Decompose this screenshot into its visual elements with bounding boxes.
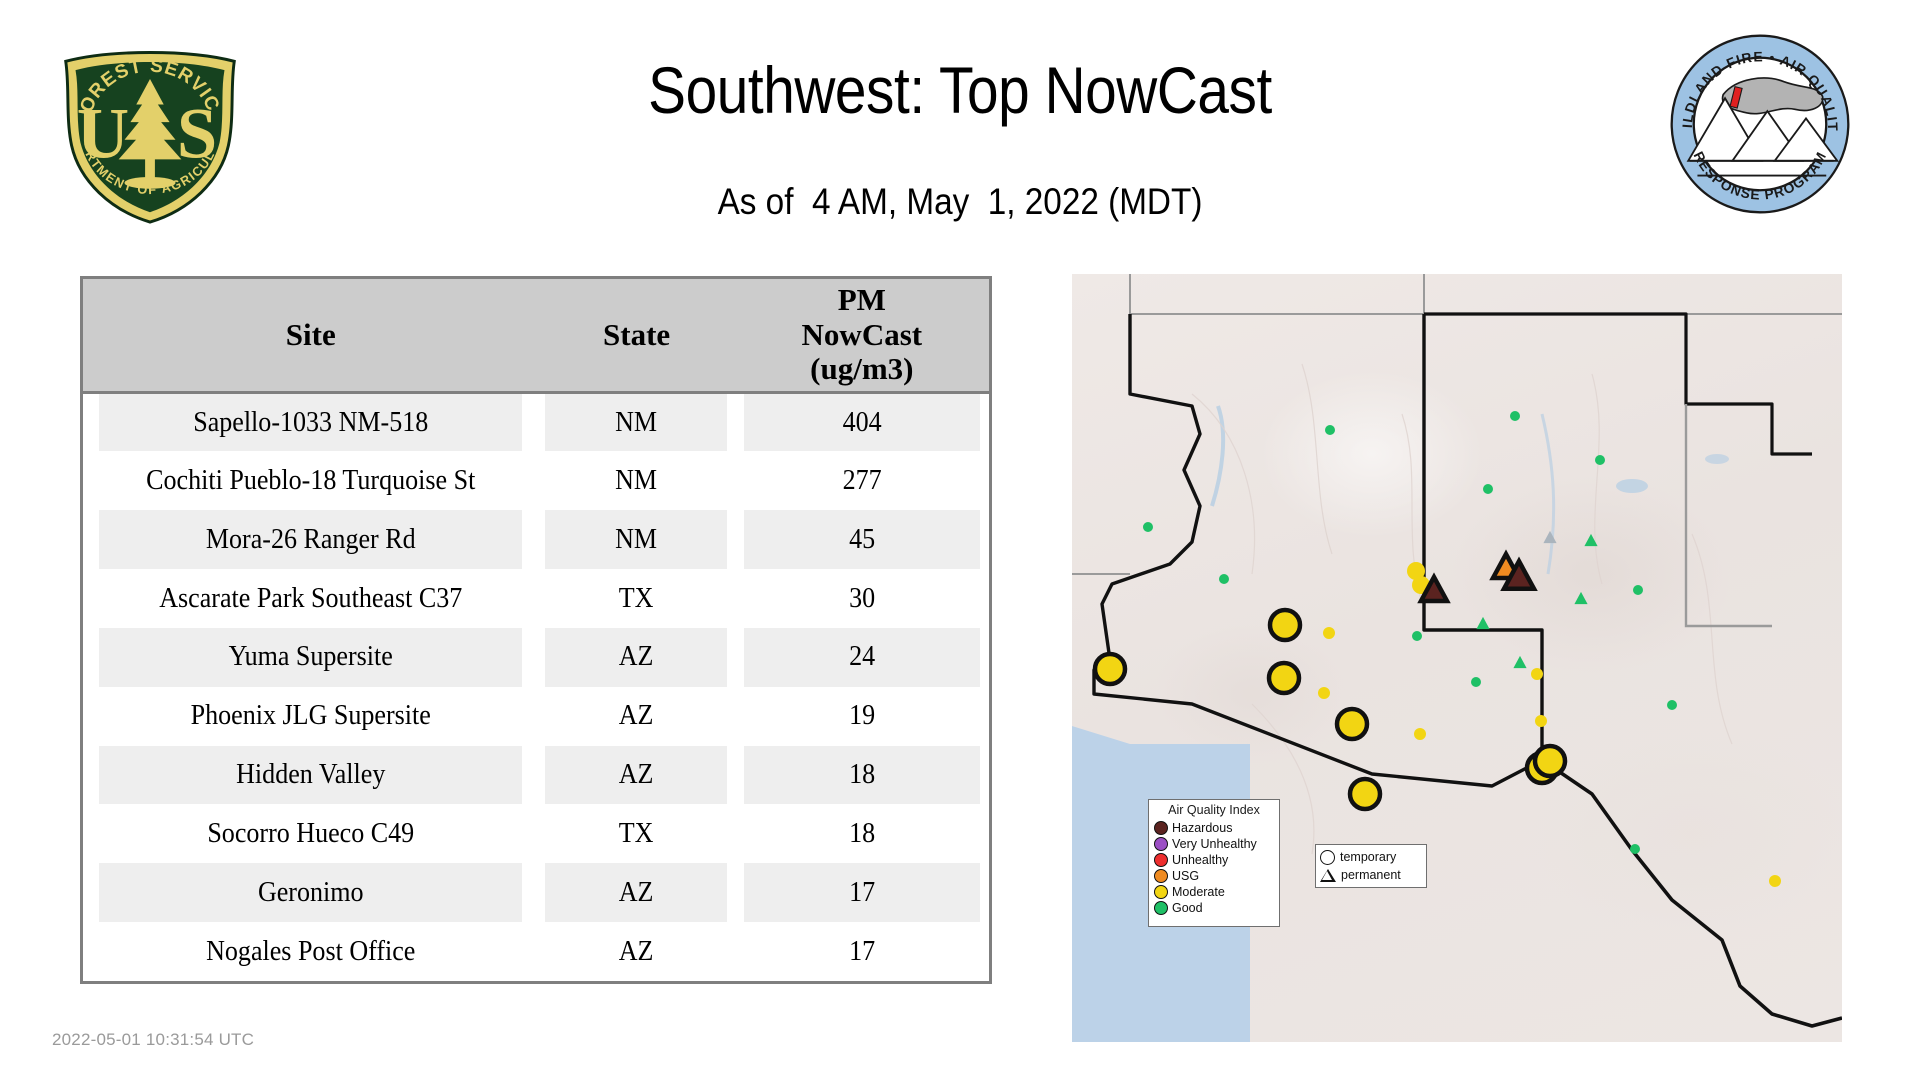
cell-site: Yuma Supersite <box>99 628 523 687</box>
cell-pm-nowcast: 19 <box>744 687 981 746</box>
map-marker-circle[interactable] <box>1143 522 1153 532</box>
map-marker-circle[interactable] <box>1270 610 1300 640</box>
table-header: Site State PM NowCast (ug/m3) <box>83 279 989 393</box>
wildland-fire-air-quality-logo: WILDLAND FIRE • AIR QUALITY RESPONSE PRO… <box>1668 32 1852 216</box>
map-marker-circle[interactable] <box>1337 709 1367 739</box>
legend-label-temporary: temporary <box>1340 850 1396 864</box>
cell-site: Socorro Hueco C49 <box>99 804 523 863</box>
river-rio-grande-upper <box>1542 414 1554 574</box>
nowcast-table: Site State PM NowCast (ug/m3) Sapello-10… <box>83 279 989 981</box>
aqi-legend-row: Moderate <box>1154 884 1274 900</box>
aqi-swatch-icon <box>1154 885 1168 899</box>
aqi-legend-label: Good <box>1172 902 1203 915</box>
site-type-legend: temporary permanent <box>1315 844 1427 888</box>
cell-pm-nowcast: 45 <box>744 510 981 569</box>
boundary-arizona-california <box>1094 314 1542 786</box>
map-marker-circle[interactable] <box>1483 484 1493 494</box>
map-marker-triangle[interactable] <box>1513 656 1526 668</box>
permanent-site-triangle-icon <box>1320 869 1336 882</box>
map-marker-circle[interactable] <box>1095 654 1125 684</box>
boundary-newmexico-north <box>1424 314 1812 454</box>
aqi-legend-label: Very Unhealthy <box>1172 838 1257 851</box>
cell-pm-nowcast: 277 <box>744 451 981 510</box>
aqi-legend-rows: HazardousVery UnhealthyUnhealthyUSGModer… <box>1154 820 1274 916</box>
cell-state: AZ <box>545 922 727 981</box>
aqi-legend-title: Air Quality Index <box>1154 804 1274 818</box>
cell-site: Phoenix JLG Supersite <box>99 687 523 746</box>
cell-state: AZ <box>545 863 727 922</box>
aqi-legend-row: Good <box>1154 900 1274 916</box>
nowcast-table-container: Site State PM NowCast (ug/m3) Sapello-10… <box>80 276 992 984</box>
table-body: Sapello-1033 NM-518NM404Cochiti Pueblo-1… <box>83 393 989 981</box>
table-row[interactable]: Socorro Hueco C49TX18 <box>83 804 989 863</box>
aqi-swatch-icon <box>1154 821 1168 835</box>
page-title: Southwest: Top NowCast <box>358 52 1562 128</box>
column-header-pm-line1: PM <box>737 283 987 318</box>
table-row[interactable]: Mora-26 Ranger RdNM45 <box>83 510 989 569</box>
map-marker-triangle[interactable] <box>1574 592 1587 604</box>
legend-row-temporary: temporary <box>1320 848 1422 866</box>
map-marker-circle[interactable] <box>1667 700 1677 710</box>
air-quality-map[interactable]: Air Quality Index HazardousVery Unhealth… <box>1072 274 1842 1042</box>
cell-state: NM <box>545 451 727 510</box>
cell-state: AZ <box>545 687 727 746</box>
map-marker-circle[interactable] <box>1219 574 1229 584</box>
map-marker-circle[interactable] <box>1630 844 1640 854</box>
table-row[interactable]: Hidden ValleyAZ18 <box>83 746 989 805</box>
map-marker-circle[interactable] <box>1325 425 1335 435</box>
aqi-legend-row: Very Unhealthy <box>1154 836 1274 852</box>
cell-pm-nowcast: 18 <box>744 746 981 805</box>
column-header-state[interactable]: State <box>538 279 734 393</box>
cell-pm-nowcast: 24 <box>744 628 981 687</box>
cell-state: NM <box>545 393 727 452</box>
table-header-row: Site State PM NowCast (ug/m3) <box>83 279 989 393</box>
column-header-pm-line2: NowCast <box>737 318 987 353</box>
map-marker-triangle[interactable] <box>1476 617 1489 629</box>
cell-pm-nowcast: 17 <box>744 863 981 922</box>
cell-state: NM <box>545 510 727 569</box>
map-marker-circle[interactable] <box>1412 631 1422 641</box>
aqi-swatch-icon <box>1154 869 1168 883</box>
boundary-usa-mexico <box>1542 760 1842 1026</box>
column-header-pm-nowcast[interactable]: PM NowCast (ug/m3) <box>735 279 989 393</box>
map-marker-circle[interactable] <box>1510 411 1520 421</box>
cell-state: AZ <box>545 628 727 687</box>
aqi-legend: Air Quality Index HazardousVery Unhealth… <box>1148 799 1280 927</box>
lake-feature-2 <box>1705 454 1729 464</box>
aqi-swatch-icon <box>1154 853 1168 867</box>
temporary-site-circle-icon <box>1320 850 1335 865</box>
column-header-pm-line3: (ug/m3) <box>737 352 987 387</box>
table-row[interactable]: Nogales Post OfficeAZ17 <box>83 922 989 981</box>
aqi-legend-row: Hazardous <box>1154 820 1274 836</box>
table-row[interactable]: Sapello-1033 NM-518NM404 <box>83 393 989 452</box>
page-subtitle: As of 4 AM, May 1, 2022 (MDT) <box>330 181 1590 223</box>
cell-state: TX <box>545 569 727 628</box>
forest-service-logo: FOREST SERVICE U S DEPARTMENT OF AGRICUL… <box>52 28 248 224</box>
column-header-site[interactable]: Site <box>83 279 538 393</box>
cell-site: Geronimo <box>99 863 523 922</box>
aqi-legend-label: Hazardous <box>1172 822 1232 835</box>
cell-site: Hidden Valley <box>99 746 523 805</box>
cell-site: Sapello-1033 NM-518 <box>99 393 523 452</box>
map-marker-circle[interactable] <box>1471 677 1481 687</box>
map-marker-circle[interactable] <box>1535 746 1565 776</box>
lake-feature <box>1616 479 1648 493</box>
boundary-texas-panhandle <box>1686 404 1772 626</box>
map-marker-circle[interactable] <box>1414 728 1426 740</box>
table-row[interactable]: Ascarate Park Southeast C37TX30 <box>83 569 989 628</box>
aqi-legend-row: USG <box>1154 868 1274 884</box>
map-marker-circle[interactable] <box>1323 627 1335 639</box>
footer-timestamp: 2022-05-01 10:31:54 UTC <box>52 1030 254 1050</box>
cell-site: Nogales Post Office <box>99 922 523 981</box>
map-marker-circle[interactable] <box>1535 715 1547 727</box>
aqi-legend-row: Unhealthy <box>1154 852 1274 868</box>
cell-site: Mora-26 Ranger Rd <box>99 510 523 569</box>
cell-pm-nowcast: 18 <box>744 804 981 863</box>
map-marker-circle[interactable] <box>1595 455 1605 465</box>
table-row[interactable]: Yuma SupersiteAZ24 <box>83 628 989 687</box>
aqi-legend-label: Unhealthy <box>1172 854 1228 867</box>
table-row[interactable]: Phoenix JLG SupersiteAZ19 <box>83 687 989 746</box>
table-row[interactable]: GeronimoAZ17 <box>83 863 989 922</box>
cell-state: TX <box>545 804 727 863</box>
cell-pm-nowcast: 17 <box>744 922 981 981</box>
cell-site: Ascarate Park Southeast C37 <box>99 569 523 628</box>
aqi-swatch-icon <box>1154 837 1168 851</box>
map-marker-circle[interactable] <box>1269 663 1299 693</box>
map-marker-circle[interactable] <box>1350 779 1380 809</box>
cell-pm-nowcast: 404 <box>744 393 981 452</box>
legend-row-permanent: permanent <box>1320 866 1422 884</box>
map-marker-triangle[interactable] <box>1543 531 1556 543</box>
cell-pm-nowcast: 30 <box>744 569 981 628</box>
legend-label-permanent: permanent <box>1341 868 1401 882</box>
terrain-relief <box>1192 364 1732 854</box>
aqi-legend-label: USG <box>1172 870 1199 883</box>
map-marker-circle[interactable] <box>1318 687 1330 699</box>
map-marker-circle[interactable] <box>1769 875 1781 887</box>
boundary-north-states <box>1130 274 1842 314</box>
map-marker-circle[interactable] <box>1633 585 1643 595</box>
map-marker-circle[interactable] <box>1531 668 1543 680</box>
aqi-legend-label: Moderate <box>1172 886 1225 899</box>
aqi-swatch-icon <box>1154 901 1168 915</box>
cell-site: Cochiti Pueblo-18 Turquoise St <box>99 451 523 510</box>
cell-state: AZ <box>545 746 727 805</box>
boundary-arizona-newmexico <box>1424 314 1542 760</box>
table-row[interactable]: Cochiti Pueblo-18 Turquoise StNM277 <box>83 451 989 510</box>
